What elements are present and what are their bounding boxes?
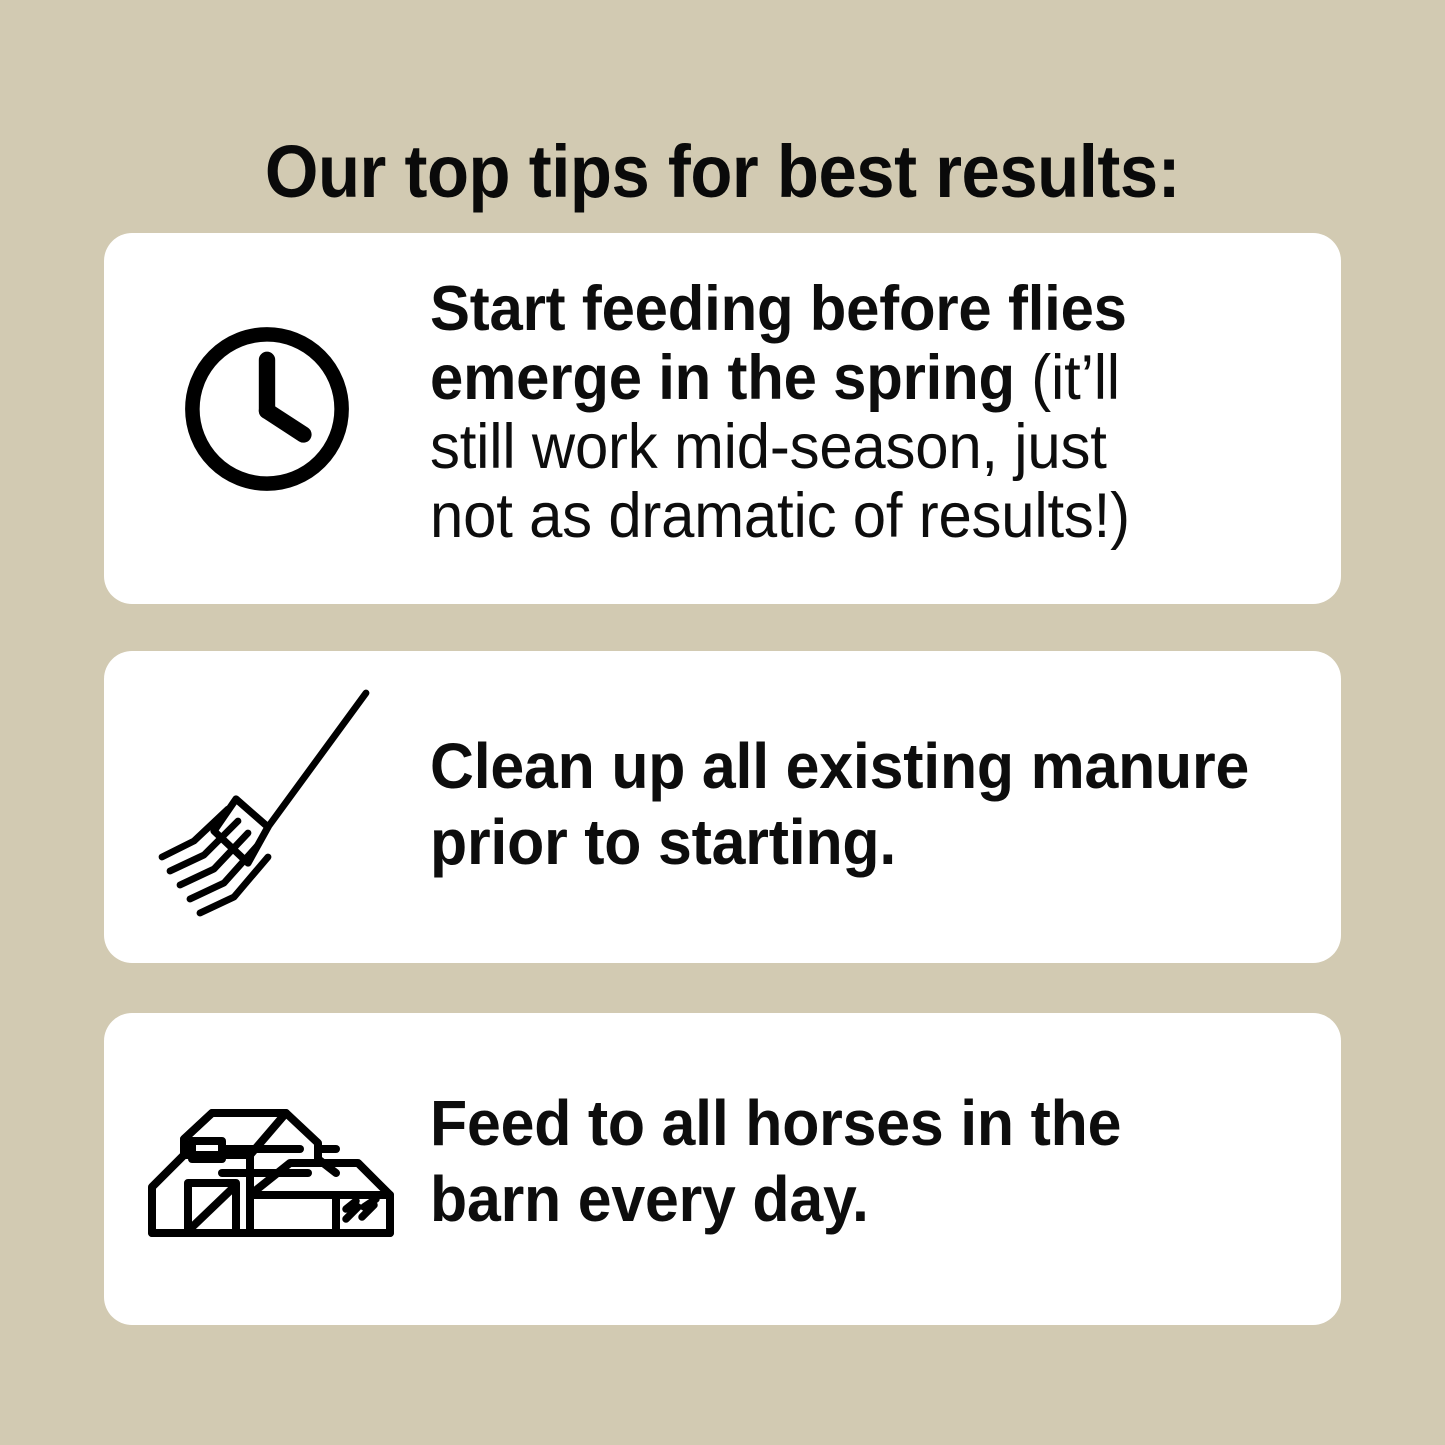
barn-icon bbox=[140, 1091, 400, 1246]
tip-card-2: Clean up all existing manure prior to st… bbox=[104, 651, 1341, 963]
tip-text-1: Start feeding before flies emerge in the… bbox=[430, 275, 1190, 551]
tip-text-2: Clean up all existing manure prior to st… bbox=[430, 728, 1266, 880]
tip-card-1: Start feeding before flies emerge in the… bbox=[104, 233, 1341, 604]
tip-card-3: Feed to all horses in the barn every day… bbox=[104, 1013, 1341, 1325]
tip-text-2-bold: Clean up all existing manure prior to st… bbox=[430, 730, 1249, 878]
page-title: Our top tips for best results: bbox=[51, 132, 1395, 212]
tip-text-3-bold: Feed to all horses in the barn every day… bbox=[430, 1087, 1121, 1235]
tips-infographic: Our top tips for best results: Start fee… bbox=[0, 0, 1445, 1445]
clock-icon bbox=[176, 318, 358, 500]
tip-text-3: Feed to all horses in the barn every day… bbox=[430, 1085, 1266, 1237]
pitchfork-icon bbox=[154, 673, 414, 945]
